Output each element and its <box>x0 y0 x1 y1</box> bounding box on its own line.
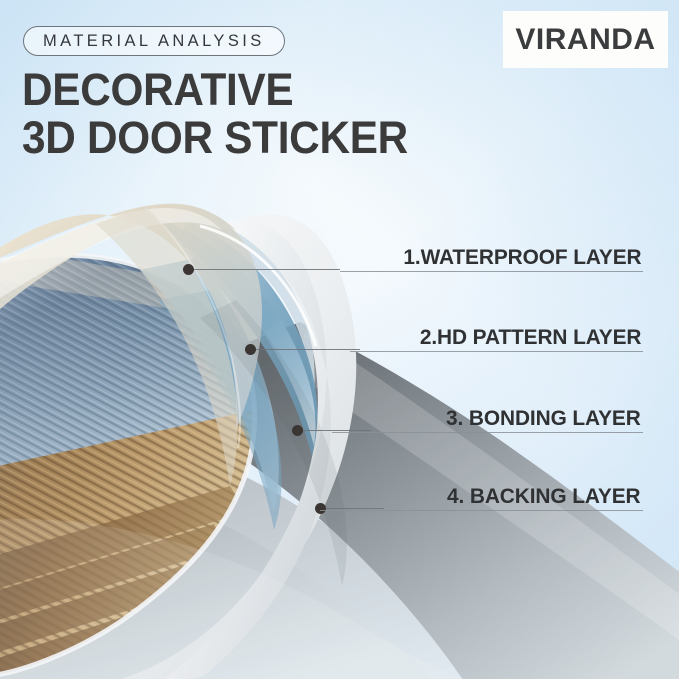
callout-dot-1 <box>183 264 194 275</box>
callout-label-2: 2.HD PATTERN LAYER <box>419 325 641 350</box>
callout-leader-2 <box>256 349 360 350</box>
brand-name: VIRANDA <box>515 23 655 57</box>
callout-rule-4 <box>320 510 643 511</box>
page-title-line-2: 3D DOOR STICKER <box>22 114 436 162</box>
callout-1: 1.WATERPROOF LAYER <box>396 245 641 270</box>
callout-leader-4 <box>326 508 384 509</box>
callout-label-1: 1.WATERPROOF LAYER <box>403 245 641 270</box>
callout-dot-2 <box>245 344 256 355</box>
callout-label-3: 3. BONDING LAYER <box>446 406 641 431</box>
callout-dot-4 <box>315 503 326 514</box>
callout-rule-1 <box>340 271 643 272</box>
callout-label-4: 4. BACKING LAYER <box>447 484 641 509</box>
callout-3: 3. BONDING LAYER <box>440 406 641 431</box>
callout-leader-1 <box>194 269 340 270</box>
page-title: DECORATIVE 3D DOOR STICKER <box>22 66 462 162</box>
callout-rule-3 <box>332 432 643 433</box>
eyebrow-pill: MATERIAL ANALYSIS <box>23 26 285 56</box>
callout-rule-2 <box>350 351 643 352</box>
material-analysis-infographic: MATERIAL ANALYSIS VIRANDA DECORATIVE 3D … <box>0 0 679 679</box>
callout-2: 2.HD PATTERN LAYER <box>413 325 641 350</box>
brand-logo-box: VIRANDA <box>503 11 668 68</box>
eyebrow-label: MATERIAL ANALYSIS <box>43 32 265 51</box>
callout-leader-3 <box>303 430 371 431</box>
page-title-line-1: DECORATIVE <box>22 66 436 114</box>
callout-4: 4. BACKING LAYER <box>441 484 641 509</box>
callout-dot-3 <box>292 425 303 436</box>
